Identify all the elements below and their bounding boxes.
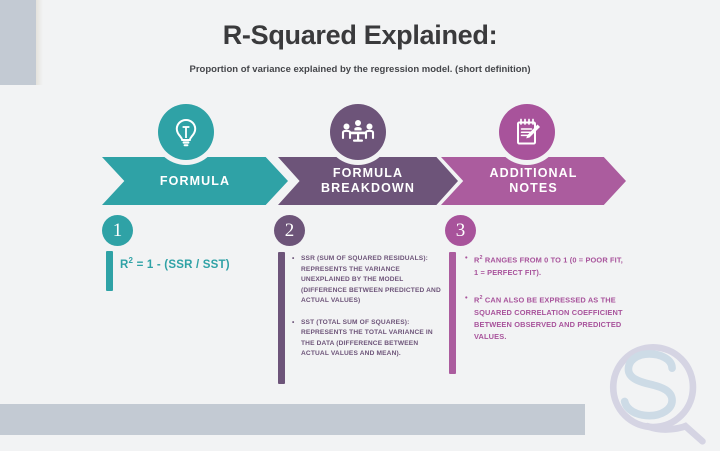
notepad-pencil-icon-circle[interactable] xyxy=(499,104,555,160)
banner-formula-breakdown-label: FORMULA BREAKDOWN xyxy=(321,166,415,196)
column-formula: FORMULA 1 R2 = 1 - (SSR / SST) xyxy=(98,0,284,451)
slide-canvas: R-Squared Explained: Proportion of varia… xyxy=(0,0,720,451)
breakdown-bullet-list: SSR (SUM OF SQUARED RESIDUALS): REPRESEN… xyxy=(292,254,446,371)
note-remainder: CAN ALSO BE EXPRESSED AS THE SQUARED COR… xyxy=(474,295,623,341)
formula-expression: R2 = 1 - (SSR / SST) xyxy=(120,256,300,271)
list-item: R2 RANGES FROM 0 TO 1 (0 = POOR FIT, 1 =… xyxy=(465,252,625,279)
notepad-pencil-icon xyxy=(511,116,543,148)
meeting-table-icon-circle[interactable] xyxy=(330,104,386,160)
formula-base: R xyxy=(120,259,129,271)
banner-additional-notes[interactable]: ADDITIONAL NOTES xyxy=(441,157,626,205)
accent-bar-1 xyxy=(106,251,113,291)
column-additional-notes: ADDITIONAL NOTES 3 R2 RANGES FROM 0 TO 1… xyxy=(437,0,627,451)
banner-line-2: NOTES xyxy=(509,181,558,195)
step-number-1: 1 xyxy=(102,215,133,246)
lightbulb-icon xyxy=(170,116,202,148)
step-number-2: 2 xyxy=(274,215,305,246)
list-item: SST (TOTAL SUM OF SQUARES): REPRESENTS T… xyxy=(292,318,446,360)
notes-bullet-list: R2 RANGES FROM 0 TO 1 (0 = POOR FIT, 1 =… xyxy=(465,252,625,356)
formula-remainder: = 1 - (SSR / SST) xyxy=(133,259,230,271)
list-item: SSR (SUM OF SQUARED RESIDUALS): REPRESEN… xyxy=(292,254,446,307)
meeting-table-icon xyxy=(341,116,375,148)
banner-formula-label: FORMULA xyxy=(160,174,230,189)
step-number-3: 3 xyxy=(445,215,476,246)
list-item: R2 CAN ALSO BE EXPRESSED AS THE SQUARED … xyxy=(465,292,625,343)
banner-additional-notes-label: ADDITIONAL NOTES xyxy=(489,166,577,196)
banner-line-2: BREAKDOWN xyxy=(321,181,415,195)
accent-bar-3 xyxy=(449,252,456,374)
banner-line-1: FORMULA xyxy=(333,166,403,180)
banner-line-1: ADDITIONAL xyxy=(489,166,577,180)
banner-formula[interactable]: FORMULA xyxy=(102,157,288,205)
accent-bar-2 xyxy=(278,252,285,384)
note-remainder: RANGES FROM 0 TO 1 (0 = POOR FIT, 1 = PE… xyxy=(474,255,623,276)
lightbulb-icon-circle[interactable] xyxy=(158,104,214,160)
banner-formula-breakdown[interactable]: FORMULA BREAKDOWN xyxy=(278,157,458,205)
column-formula-breakdown: FORMULA BREAKDOWN 2 SSR (SUM OF SQUARED … xyxy=(274,0,446,451)
